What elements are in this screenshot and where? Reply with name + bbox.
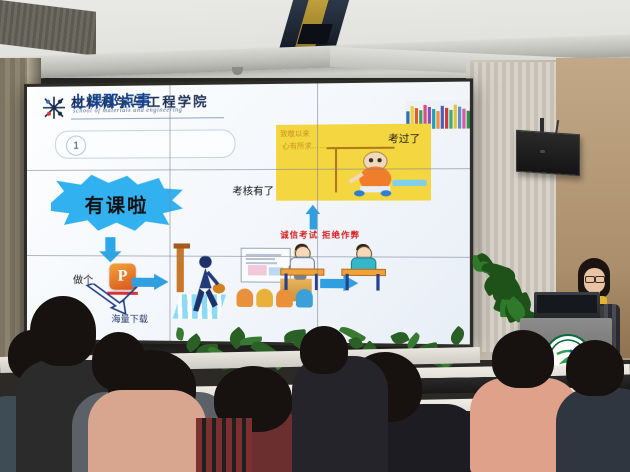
audience-head-2: [30, 296, 96, 366]
audience-head-8: [492, 330, 554, 388]
exam-scene-illustration: [280, 244, 394, 294]
book-spine: [454, 105, 457, 129]
plaid-scarf: [196, 418, 252, 472]
door-top-graphic: [174, 243, 190, 248]
blue-bench-graphic: [392, 180, 426, 186]
assessment-label: 考核有了: [232, 182, 274, 197]
starburst-shape: 有课啦: [51, 174, 183, 233]
book-spine: [445, 108, 448, 129]
yellow-panel: 致敬以来 心有所求…… 考过了: [276, 124, 431, 201]
book-spine: [458, 107, 461, 129]
download-caption: 海量下载: [111, 312, 148, 326]
walking-person-icon: [181, 254, 237, 317]
slide-title-box: 1: [55, 129, 235, 159]
plant-leaf: [175, 327, 186, 341]
audience-body-4: [88, 390, 206, 472]
audience-head-7: [300, 326, 348, 374]
integrity-slogan: 诚信考试 拒绝作弊: [280, 229, 360, 240]
audience-body-9: [556, 388, 630, 472]
yellow-panel-line2: 心有所求……: [282, 141, 326, 152]
speaker-badge: [540, 150, 545, 153]
wall-speaker: [516, 130, 580, 176]
slide-title: 上课那点事: [71, 89, 152, 111]
slide-number-badge: 1: [66, 136, 86, 156]
presenter-laptop[interactable]: [534, 292, 600, 320]
passed-exam-label: 考过了: [388, 130, 420, 146]
audience-head-9: [566, 340, 624, 396]
book-spine: [467, 111, 470, 129]
laptop-screen: [537, 295, 597, 313]
yellow-panel-line1: 致敬以来: [280, 129, 309, 139]
audience-body-7: [292, 356, 388, 472]
glasses-icon: [585, 276, 595, 283]
logo-divider: [71, 117, 224, 119]
video-wall-display[interactable]: 材料科学与工程学院 school of materials and engine…: [24, 78, 473, 347]
book-spine: [449, 110, 452, 129]
video-wall-screen: 材料科学与工程学院 school of materials and engine…: [27, 82, 470, 345]
student-head: [237, 289, 254, 308]
book-spine: [432, 109, 435, 129]
presentation-slide: 材料科学与工程学院 school of materials and engine…: [27, 82, 470, 345]
book-spine: [436, 111, 439, 129]
book-spine: [462, 109, 465, 129]
lecture-hall-photo: 材料科学与工程学院 school of materials and engine…: [0, 0, 630, 472]
book-spine: [441, 106, 444, 129]
ceiling-av-shadow: [297, 24, 333, 44]
glasses-icon-right: [595, 276, 605, 283]
starburst-label: 有课啦: [51, 191, 183, 218]
exercising-pig-icon: [346, 151, 401, 197]
audience-head-4: [92, 332, 146, 390]
blue-arrow-1-icon: [132, 274, 169, 290]
school-logo-icon: [41, 95, 67, 121]
student-head: [256, 289, 273, 308]
